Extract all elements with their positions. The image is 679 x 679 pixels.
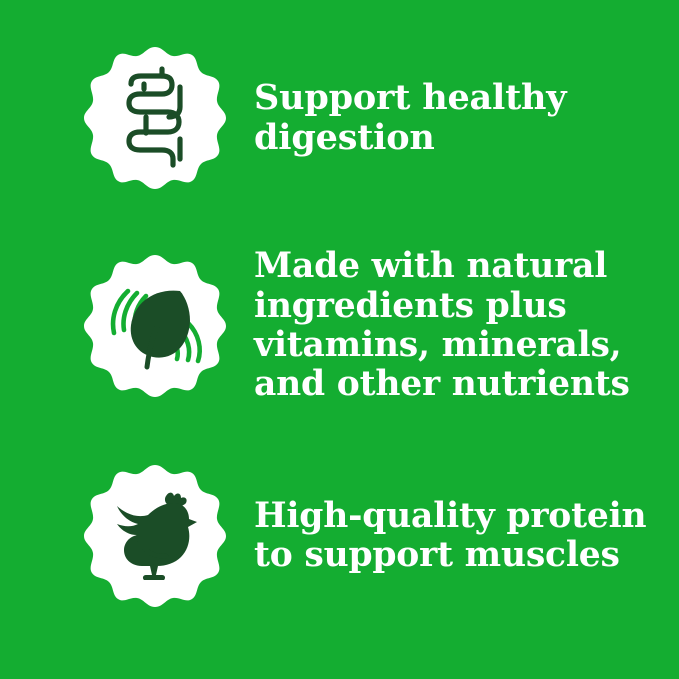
benefit-badge-digestion bbox=[84, 47, 226, 189]
benefit-text-protein: High-quality protein to support muscles bbox=[254, 497, 679, 576]
benefit-item-natural-ingredients: Made with natural ingredients plus vitam… bbox=[0, 255, 679, 397]
benefits-panel: Support healthy digestion bbox=[0, 0, 679, 679]
benefit-item-protein: High-quality protein to support muscles bbox=[0, 466, 679, 606]
benefit-badge-natural-ingredients bbox=[84, 255, 226, 397]
benefit-badge-protein bbox=[84, 465, 226, 607]
benefit-text-digestion: Support healthy digestion bbox=[254, 78, 679, 158]
benefit-item-digestion: Support healthy digestion bbox=[0, 48, 679, 188]
scalloped-badge-shape bbox=[84, 47, 226, 189]
benefit-text-natural-ingredients: Made with natural ingredients plus vitam… bbox=[254, 247, 679, 404]
